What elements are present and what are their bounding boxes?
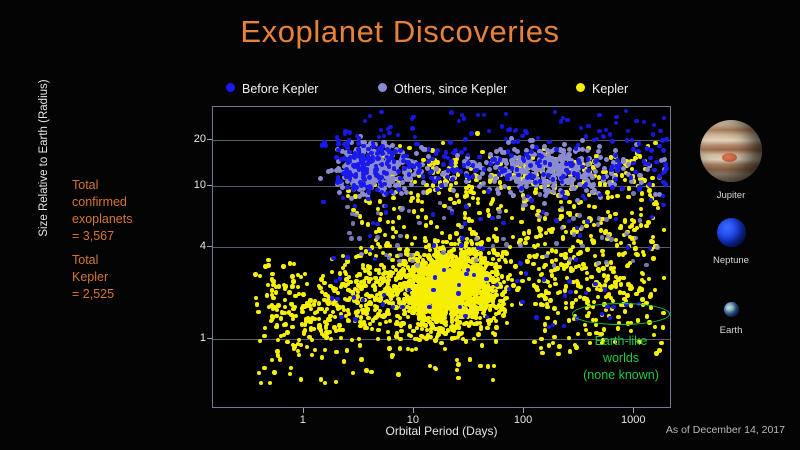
data-point: [533, 302, 537, 306]
data-point: [610, 195, 614, 199]
data-point: [410, 196, 414, 200]
data-point: [313, 348, 317, 352]
data-point: [525, 259, 529, 263]
data-point: [347, 319, 351, 323]
data-point: [431, 212, 435, 216]
data-point: [532, 283, 536, 287]
y-tick-label-4: 4: [200, 240, 206, 252]
data-point: [630, 138, 634, 142]
data-point: [317, 307, 321, 311]
data-point: [445, 288, 449, 292]
data-point: [435, 256, 439, 260]
data-point: [464, 241, 468, 245]
data-point: [402, 312, 406, 316]
data-point: [325, 322, 329, 326]
data-point: [373, 287, 377, 291]
data-point: [446, 298, 450, 302]
data-point: [527, 277, 531, 281]
data-point: [387, 255, 392, 260]
data-point: [567, 219, 571, 223]
data-point: [375, 222, 379, 226]
data-point: [453, 148, 458, 153]
data-point: [490, 216, 494, 220]
data-point: [287, 290, 291, 294]
data-point: [300, 306, 304, 310]
data-point: [435, 187, 440, 192]
data-point: [349, 236, 354, 241]
data-point: [359, 286, 363, 290]
data-point: [649, 198, 653, 202]
data-point: [296, 285, 300, 289]
data-point: [476, 201, 480, 205]
data-point: [502, 184, 507, 189]
data-point: [416, 215, 420, 219]
data-point: [453, 160, 457, 164]
data-point: [292, 262, 296, 266]
data-point: [491, 378, 495, 382]
data-point: [282, 311, 286, 315]
data-point: [364, 368, 368, 372]
earth-icon: [724, 302, 739, 317]
data-point: [359, 357, 363, 361]
data-point: [467, 218, 471, 222]
data-point: [503, 158, 508, 163]
data-point: [366, 222, 370, 226]
data-point: [516, 173, 521, 178]
data-point: [637, 141, 642, 146]
data-point: [631, 191, 636, 196]
data-point: [640, 297, 644, 301]
data-point: [445, 175, 450, 180]
data-point: [253, 272, 257, 276]
data-point: [496, 215, 501, 220]
data-point: [594, 158, 599, 163]
data-point: [305, 345, 309, 349]
data-point: [420, 311, 424, 315]
data-point: [420, 327, 424, 331]
data-point: [630, 211, 634, 215]
data-point: [504, 251, 508, 255]
data-point: [551, 323, 555, 327]
data-point: [378, 199, 382, 203]
data-point: [378, 322, 382, 326]
data-point: [357, 272, 361, 276]
data-point: [506, 149, 511, 154]
data-point: [604, 128, 608, 132]
neptune-label: Neptune: [676, 255, 786, 266]
data-point: [270, 358, 274, 362]
data-point: [614, 238, 618, 242]
data-point: [518, 261, 522, 265]
data-point: [387, 131, 391, 135]
data-point: [483, 261, 487, 265]
data-point: [651, 132, 655, 136]
data-point: [574, 257, 578, 261]
data-point: [662, 228, 666, 232]
data-point: [268, 381, 272, 385]
data-point: [570, 301, 574, 305]
data-point: [359, 246, 363, 250]
data-point: [543, 328, 547, 332]
chart-legend: Before Kepler Others, since Kepler Keple…: [226, 80, 666, 100]
data-point: [335, 180, 340, 185]
data-point: [336, 306, 340, 310]
data-point: [442, 216, 447, 221]
data-point: [552, 172, 557, 177]
data-point: [465, 193, 469, 197]
data-point: [382, 134, 386, 138]
data-point: [553, 110, 557, 114]
data-point: [657, 174, 662, 179]
footer-date: As of December 14, 2017: [666, 424, 785, 436]
data-point: [399, 329, 403, 333]
data-point: [598, 288, 602, 292]
data-point: [457, 119, 461, 123]
data-point: [310, 353, 314, 357]
data-point: [658, 129, 662, 133]
data-point: [586, 157, 591, 162]
data-point: [633, 246, 637, 250]
data-point: [439, 341, 443, 345]
data-point: [492, 364, 496, 368]
data-point: [480, 150, 484, 154]
data-point: [460, 236, 464, 240]
data-point: [291, 317, 295, 321]
data-point: [396, 372, 400, 376]
data-point: [538, 192, 543, 197]
data-point: [621, 252, 625, 256]
data-point: [655, 245, 660, 250]
data-point: [501, 237, 506, 242]
data-point: [610, 164, 615, 169]
data-point: [328, 314, 332, 318]
neptune-icon: [717, 218, 746, 247]
data-point: [601, 175, 606, 180]
data-point: [514, 128, 518, 132]
data-point: [639, 213, 643, 217]
data-point: [532, 340, 536, 344]
data-point: [486, 189, 491, 194]
data-point: [437, 313, 441, 317]
data-point: [345, 205, 350, 210]
data-point: [368, 277, 372, 281]
data-point: [278, 357, 282, 361]
data-point: [572, 204, 576, 208]
data-point: [634, 119, 639, 124]
data-point: [387, 346, 391, 350]
data-point: [487, 251, 491, 255]
data-point: [453, 325, 457, 329]
data-point: [441, 141, 445, 145]
data-point: [652, 123, 656, 127]
data-point: [376, 328, 380, 332]
data-point: [351, 371, 355, 375]
data-point: [500, 274, 504, 278]
data-point: [639, 223, 643, 227]
data-point: [379, 148, 384, 153]
data-point: [396, 297, 400, 301]
data-point: [480, 240, 484, 244]
data-point: [450, 177, 455, 182]
y-tick-label-10: 10: [194, 179, 206, 191]
data-point: [526, 155, 531, 160]
data-point: [570, 305, 574, 309]
data-point: [414, 347, 418, 351]
data-point: [469, 131, 473, 135]
data-point: [521, 156, 526, 161]
data-point: [330, 270, 334, 274]
data-point: [271, 316, 275, 320]
data-point: [384, 191, 389, 196]
data-point: [536, 136, 540, 140]
data-point: [567, 200, 571, 204]
data-point: [640, 191, 644, 195]
data-point: [257, 371, 261, 375]
data-point: [366, 307, 370, 311]
data-point: [411, 285, 415, 289]
data-point: [602, 327, 606, 331]
data-point: [344, 157, 349, 162]
data-point: [299, 343, 303, 347]
data-point: [357, 236, 362, 241]
data-point: [478, 316, 482, 320]
data-point: [354, 213, 359, 218]
data-point: [369, 370, 373, 374]
data-point: [488, 152, 493, 157]
data-point: [604, 260, 609, 265]
data-point: [642, 120, 646, 124]
data-point: [497, 258, 501, 262]
data-point: [349, 196, 354, 201]
y-tick-label-1: 1: [200, 332, 206, 344]
data-point: [359, 252, 364, 257]
data-point: [360, 308, 364, 312]
data-point: [571, 268, 575, 272]
data-point: [424, 215, 428, 219]
data-point: [428, 248, 432, 252]
data-point: [391, 226, 395, 230]
data-point: [606, 234, 611, 239]
data-point: [607, 180, 612, 185]
data-point: [390, 152, 395, 157]
data-point: [614, 121, 618, 125]
data-point: [348, 176, 353, 181]
data-point: [368, 248, 372, 252]
data-point: [542, 265, 546, 269]
planet-jupiter: Jupiter: [676, 120, 786, 201]
data-point: [554, 258, 558, 262]
data-point: [609, 260, 613, 264]
data-point: [564, 168, 569, 173]
data-point: [533, 180, 538, 185]
data-point: [303, 272, 307, 276]
x-tick-mark-10: [413, 408, 414, 413]
data-point: [621, 276, 625, 280]
data-point: [262, 334, 266, 338]
data-point: [652, 168, 657, 173]
data-point: [338, 276, 342, 280]
data-point: [255, 302, 259, 306]
data-point: [420, 208, 424, 212]
data-point: [392, 207, 396, 211]
data-point: [414, 151, 419, 156]
data-point: [422, 280, 426, 284]
data-point: [559, 253, 563, 257]
data-point: [639, 207, 643, 211]
data-point: [485, 326, 489, 330]
data-point: [266, 258, 270, 262]
data-point: [281, 264, 285, 268]
data-point: [596, 149, 601, 154]
data-point: [256, 310, 260, 314]
data-point: [585, 219, 589, 223]
data-point: [459, 243, 463, 247]
data-point: [357, 194, 362, 199]
data-point: [465, 300, 469, 304]
data-point: [530, 138, 535, 143]
data-point: [435, 318, 439, 322]
data-point: [495, 252, 499, 256]
data-point: [613, 153, 618, 158]
data-point: [373, 276, 377, 280]
data-point: [503, 308, 507, 312]
data-point: [452, 201, 456, 205]
data-point: [560, 190, 565, 195]
data-point: [568, 248, 572, 252]
data-point: [380, 162, 385, 167]
data-point: [439, 303, 443, 307]
data-point: [473, 304, 477, 308]
data-point: [644, 263, 649, 268]
data-point: [297, 338, 301, 342]
data-point: [334, 380, 338, 384]
data-point: [607, 292, 611, 296]
data-point: [585, 277, 589, 281]
data-point: [651, 256, 655, 260]
data-point: [450, 211, 454, 215]
data-point: [339, 285, 343, 289]
data-point: [388, 319, 392, 323]
data-point: [476, 268, 480, 272]
data-point: [452, 168, 457, 173]
data-point: [524, 237, 528, 241]
data-point: [505, 321, 509, 325]
data-point: [323, 348, 327, 352]
earthlike-annotation-label: Earth-like worlds (none known): [548, 333, 694, 384]
data-point: [342, 142, 347, 147]
data-point: [639, 198, 643, 202]
data-point: [498, 180, 502, 184]
data-point: [464, 272, 468, 276]
data-point: [337, 328, 341, 332]
data-point: [510, 166, 515, 171]
data-point: [470, 241, 474, 245]
data-point: [547, 325, 551, 329]
data-point: [351, 221, 356, 226]
data-point: [337, 323, 341, 327]
data-point: [368, 114, 372, 118]
data-point: [368, 234, 372, 238]
data-point: [468, 357, 472, 361]
data-point: [486, 237, 490, 241]
data-point: [424, 223, 428, 227]
data-point: [664, 137, 669, 142]
data-point: [647, 277, 651, 281]
data-point: [625, 293, 629, 297]
data-point: [613, 212, 617, 216]
data-point: [443, 347, 447, 351]
data-point: [445, 257, 449, 261]
data-point: [539, 154, 544, 159]
data-point: [471, 230, 475, 234]
planet-earth: Earth: [676, 302, 786, 336]
data-point: [345, 255, 349, 259]
data-point: [583, 323, 587, 327]
data-point: [305, 282, 309, 286]
data-point: [383, 233, 387, 237]
data-point: [552, 306, 556, 310]
data-point: [376, 156, 381, 161]
data-point: [614, 115, 618, 119]
data-point: [371, 144, 376, 149]
data-point: [291, 280, 295, 284]
data-point: [523, 203, 528, 208]
data-point: [567, 161, 572, 166]
data-point: [266, 283, 270, 287]
data-point: [342, 359, 346, 363]
legend-item-kepler: Kepler: [576, 80, 628, 98]
data-point: [422, 323, 426, 327]
data-point: [568, 290, 572, 294]
data-point: [420, 200, 424, 204]
data-point: [359, 304, 363, 308]
data-point: [487, 167, 492, 172]
data-point: [610, 139, 615, 144]
data-point: [516, 139, 521, 144]
data-point: [472, 298, 476, 302]
data-point: [317, 317, 321, 321]
data-point: [638, 218, 643, 223]
data-point: [568, 257, 573, 262]
data-point: [592, 138, 596, 142]
data-point: [564, 230, 568, 234]
data-point: [331, 256, 335, 260]
data-point: [451, 248, 455, 252]
data-point: [416, 193, 420, 197]
data-point: [285, 340, 289, 344]
data-point: [337, 190, 342, 195]
data-point: [321, 274, 325, 278]
data-point: [524, 271, 528, 275]
data-point: [504, 209, 508, 213]
data-point: [449, 159, 454, 164]
data-point: [540, 351, 544, 355]
data-point: [497, 209, 502, 214]
data-point: [431, 325, 435, 329]
data-point: [553, 282, 557, 286]
data-point: [454, 231, 458, 235]
jupiter-great-red-spot-icon: [722, 153, 737, 162]
data-point: [590, 275, 594, 279]
data-point: [602, 166, 607, 171]
data-point: [466, 161, 471, 166]
data-point: [456, 376, 460, 380]
data-point: [442, 272, 446, 276]
data-point: [530, 205, 534, 209]
data-point: [431, 288, 435, 292]
data-point: [495, 272, 499, 276]
data-point: [440, 258, 444, 262]
